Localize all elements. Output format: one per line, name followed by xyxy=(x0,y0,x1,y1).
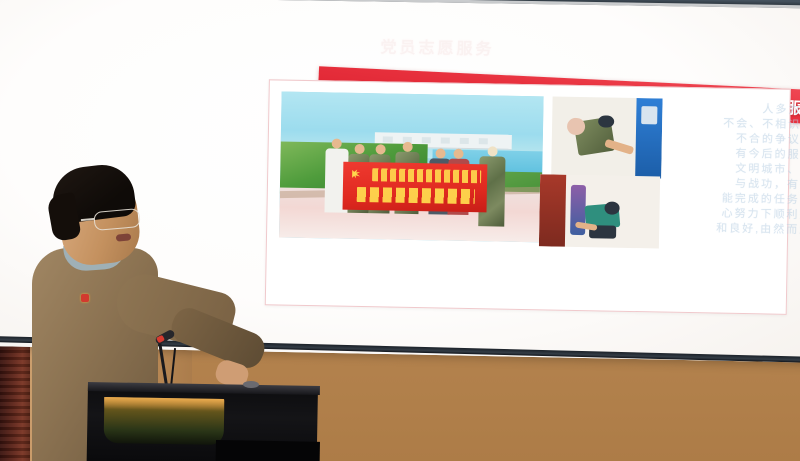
slide-body-text: 人多力量 不会、不相识、 不合的争议， 有今后的服务 文明城市、为 与战功，有很… xyxy=(584,99,800,253)
group-photo xyxy=(279,92,544,243)
slide: 党员志愿服务 “青春ing” 党员志愿者服务队 xyxy=(193,18,800,330)
lectern-sheen xyxy=(104,397,224,411)
party-pin-icon xyxy=(81,294,89,302)
lectern-base xyxy=(216,440,320,461)
photo-banner-line1 xyxy=(372,169,482,184)
lectern-control-knob[interactable] xyxy=(243,381,259,388)
eyeglasses-icon xyxy=(93,208,140,231)
slide-text-line: 和良好,由然而生 xyxy=(584,219,800,238)
photo-red-banner xyxy=(342,161,487,212)
party-emblem-icon xyxy=(350,168,362,180)
slide-header-text: 党员志愿服务 xyxy=(257,31,617,60)
screenshot-root: 党员志愿服务 “青春ing” 党员志愿者服务队 xyxy=(0,0,800,461)
photo-banner-line2 xyxy=(357,187,475,205)
photo-red-door xyxy=(539,174,567,246)
